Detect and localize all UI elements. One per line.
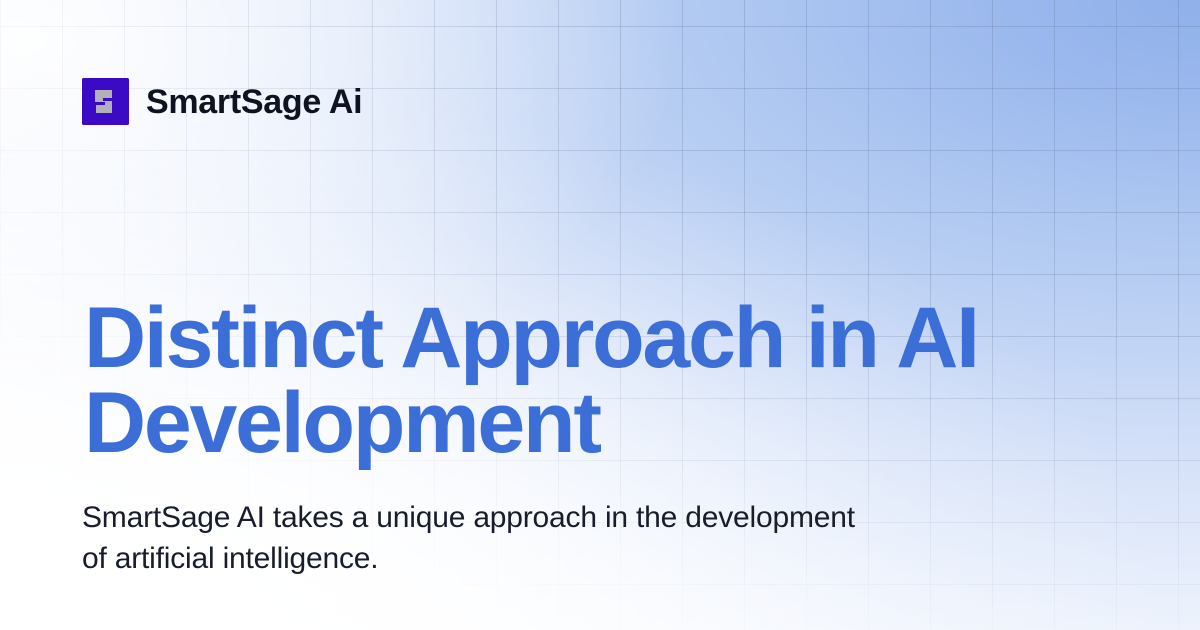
- page-title: Distinct Approach in AI Development: [84, 296, 1124, 466]
- brand-name: SmartSage Ai: [146, 85, 362, 119]
- hero-content: SmartSage Ai Distinct Approach in AI Dev…: [0, 0, 1200, 630]
- brand-lockup[interactable]: SmartSage Ai: [82, 78, 362, 125]
- hero-banner: SmartSage Ai Distinct Approach in AI Dev…: [0, 0, 1200, 630]
- smartsage-logo-icon: [82, 78, 129, 125]
- page-subtitle: SmartSage AI takes a unique approach in …: [82, 498, 882, 580]
